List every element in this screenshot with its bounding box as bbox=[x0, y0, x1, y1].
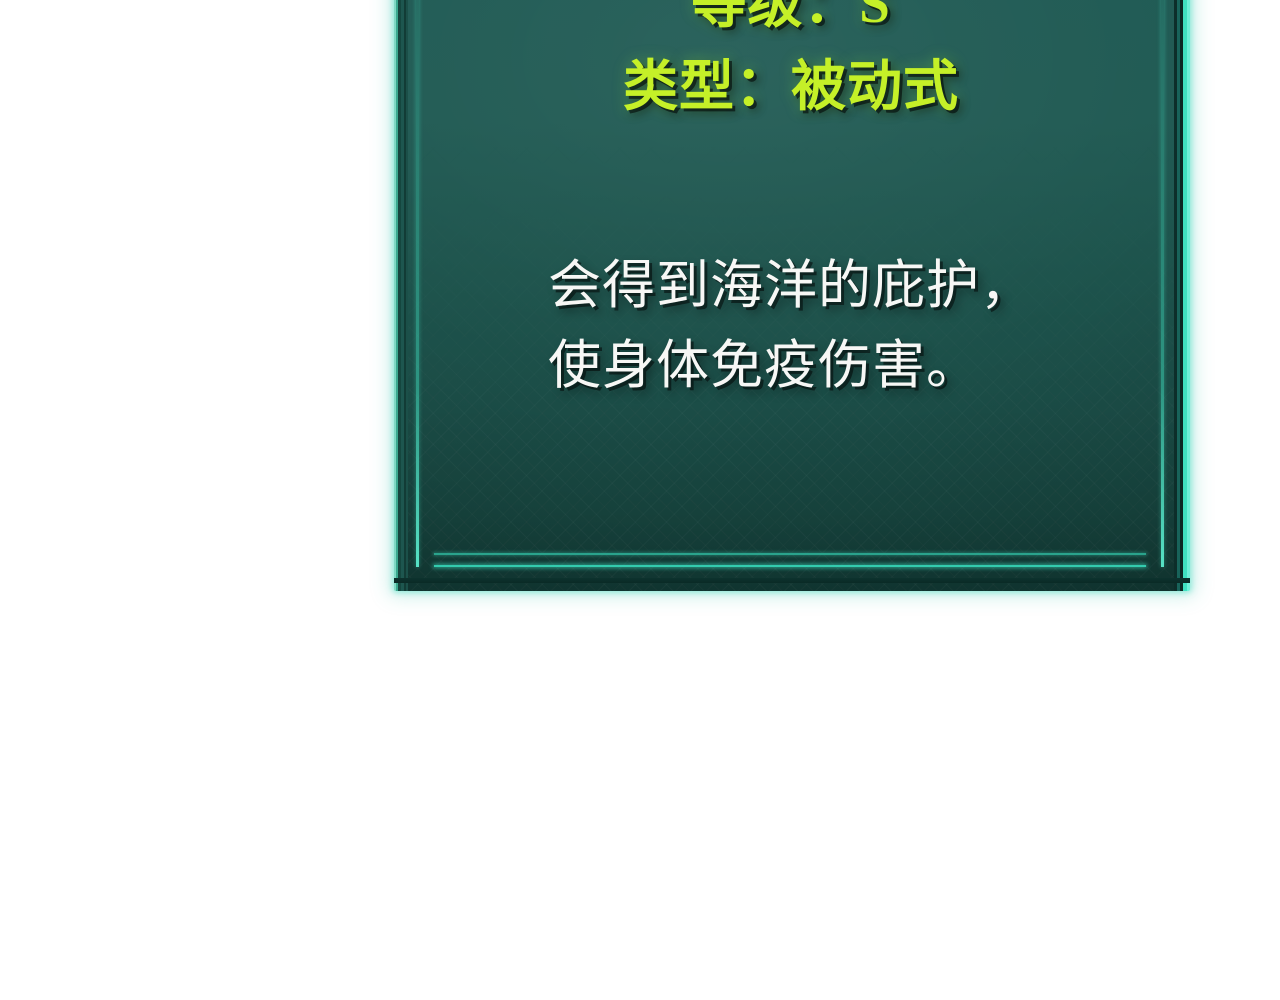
panel-text-area: 等级：S 类型：被动式 会得到海洋的庇护， 使身体免疫伤害。 bbox=[408, 0, 1174, 591]
panel-frame-border: 等级：S 类型：被动式 会得到海洋的庇护， 使身体免疫伤害。 bbox=[394, 0, 1190, 591]
skill-type-heading: 类型：被动式 bbox=[623, 45, 959, 128]
screenshot-canvas: 等级：S 类型：被动式 会得到海洋的庇护， 使身体免疫伤害。 bbox=[0, 0, 1280, 1000]
skill-info-panel: 等级：S 类型：被动式 会得到海洋的庇护， 使身体免疫伤害。 bbox=[394, 0, 1190, 591]
skill-description: 会得到海洋的庇护， 使身体免疫伤害。 bbox=[548, 246, 1034, 406]
skill-description-line-2: 使身体免疫伤害。 bbox=[548, 326, 1034, 406]
skill-grade-heading: 等级：S bbox=[691, 0, 891, 45]
skill-description-line-1: 会得到海洋的庇护， bbox=[548, 246, 1034, 326]
